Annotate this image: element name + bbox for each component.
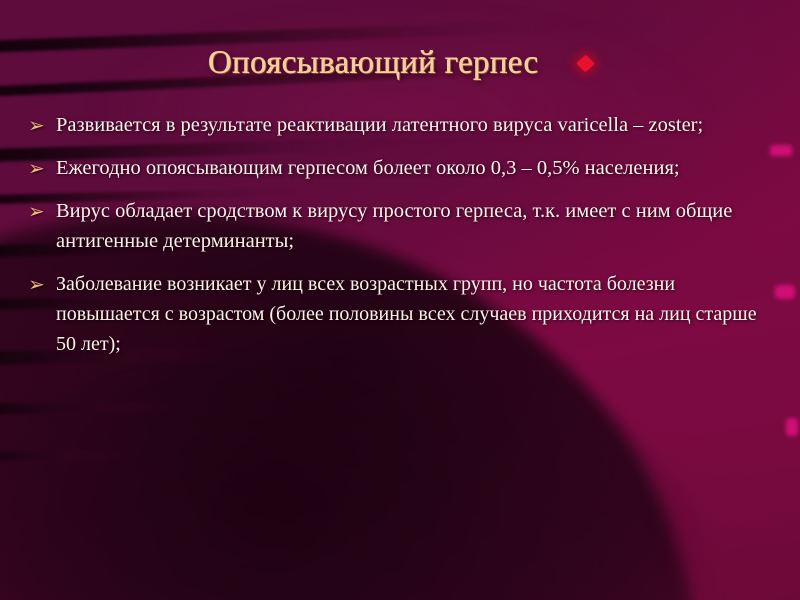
bullet-item: ➢ Вирус обладает сродством к вирусу прос… bbox=[28, 196, 758, 256]
bullet-text: Заболевание возникает у лиц всех возраст… bbox=[56, 269, 758, 359]
presentation-slide: Опоясывающий герпес ➢ Развивается в резу… bbox=[0, 0, 800, 600]
title-row: Опоясывающий герпес bbox=[0, 46, 800, 81]
red-diamond-marker-icon bbox=[576, 54, 595, 72]
arrowhead-bullet-icon: ➢ bbox=[28, 110, 56, 140]
bullet-item: ➢ Заболевание возникает у лиц всех возра… bbox=[28, 269, 758, 359]
pink-speckle-mark bbox=[770, 145, 792, 156]
pink-speckle-mark bbox=[775, 285, 795, 299]
arrowhead-bullet-icon: ➢ bbox=[28, 196, 56, 226]
background-ribbon bbox=[0, 451, 144, 461]
slide-title: Опоясывающий герпес bbox=[208, 46, 539, 81]
bullet-text: Ежегодно опоясывающим герпесом болеет ок… bbox=[56, 153, 758, 183]
bullet-item: ➢ Развивается в результате реактивации л… bbox=[28, 110, 758, 140]
bullet-list: ➢ Развивается в результате реактивации л… bbox=[28, 110, 758, 372]
bullet-text: Вирус обладает сродством к вирусу просто… bbox=[56, 196, 758, 256]
bullet-item: ➢ Ежегодно опоясывающим герпесом болеет … bbox=[28, 153, 758, 183]
arrowhead-bullet-icon: ➢ bbox=[28, 153, 56, 183]
bullet-text: Развивается в результате реактивации лат… bbox=[56, 110, 758, 140]
pink-speckle-mark bbox=[786, 418, 798, 436]
arrowhead-bullet-icon: ➢ bbox=[28, 269, 56, 299]
